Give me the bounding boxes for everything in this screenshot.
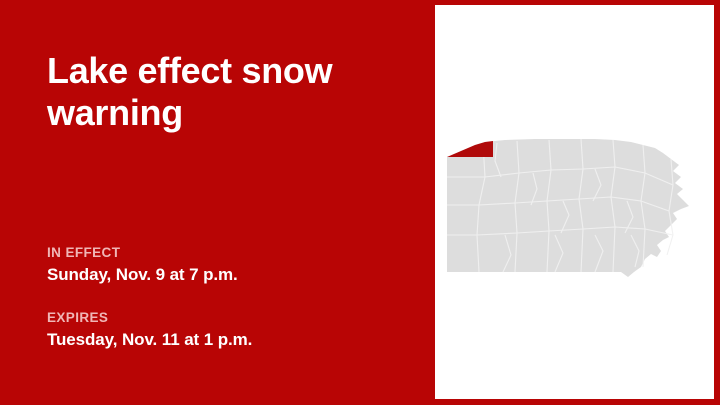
weather-alert-graphic: Lake effect snow warning IN EFFECT Sunda…	[0, 0, 720, 405]
alert-info-panel: Lake effect snow warning IN EFFECT Sunda…	[0, 0, 430, 405]
in-effect-value: Sunday, Nov. 9 at 7 p.m.	[47, 264, 407, 285]
expires-label: EXPIRES	[47, 310, 407, 326]
in-effect-label: IN EFFECT	[47, 245, 407, 261]
pennsylvania-map-icon	[445, 115, 713, 295]
in-effect-block: IN EFFECT Sunday, Nov. 9 at 7 p.m.	[47, 245, 407, 285]
alert-title: Lake effect snow warning	[47, 50, 387, 134]
state-base-shape	[447, 139, 689, 277]
expires-value: Tuesday, Nov. 11 at 1 p.m.	[47, 329, 407, 350]
expires-block: EXPIRES Tuesday, Nov. 11 at 1 p.m.	[47, 310, 407, 350]
map-card	[430, 0, 720, 405]
map-canvas	[435, 5, 714, 399]
highlighted-county-erie	[447, 141, 493, 157]
